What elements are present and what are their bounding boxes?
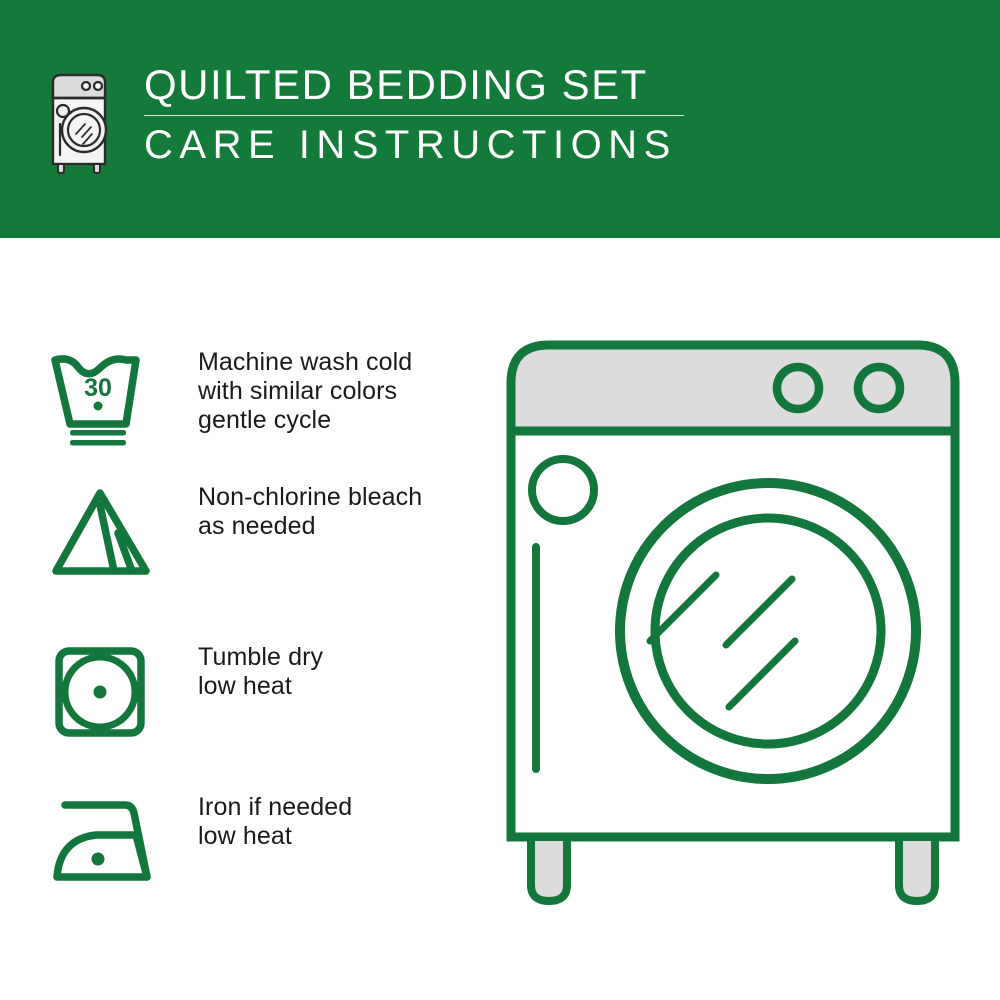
door-inner-ring [655,518,881,744]
care-item-label: Tumble dry low heat [198,643,323,701]
page-title: QUILTED BEDDING SET [144,62,684,108]
header-content: QUILTED BEDDING SET CARE INSTRUCTIONS [44,62,684,174]
header-banner: QUILTED BEDDING SET CARE INSTRUCTIONS [0,0,1000,238]
machine-leg [531,837,567,901]
washing-machine-illustration [498,335,968,925]
wash-temperature-label: 30 [84,374,112,402]
tumble-dry-low-icon [48,643,160,743]
washing-machine-icon [44,70,118,174]
title-divider [144,115,684,116]
care-item-label: Machine wash cold with similar colors ge… [198,348,412,435]
care-item-machine-wash: 30 Machine wash cold with similar colors… [48,348,412,448]
page-subtitle: CARE INSTRUCTIONS [144,123,684,167]
care-item-label: Non-chlorine bleach as needed [198,483,422,541]
iron-low-heat-icon [48,793,160,893]
care-item-label: Iron if needed low heat [198,793,352,851]
header-title-block: QUILTED BEDDING SET CARE INSTRUCTIONS [144,62,684,167]
care-item-bleach: Non-chlorine bleach as needed [48,483,422,583]
non-chlorine-bleach-icon [48,483,160,583]
care-instructions-infographic: QUILTED BEDDING SET CARE INSTRUCTIONS 30… [0,0,1000,1000]
control-knob [777,367,819,409]
indicator-light [532,459,594,521]
control-knob [858,367,900,409]
machine-wash-30-icon: 30 [48,348,160,448]
machine-leg [899,837,935,901]
care-item-iron: Iron if needed low heat [48,793,352,893]
care-item-tumble-dry: Tumble dry low heat [48,643,323,743]
